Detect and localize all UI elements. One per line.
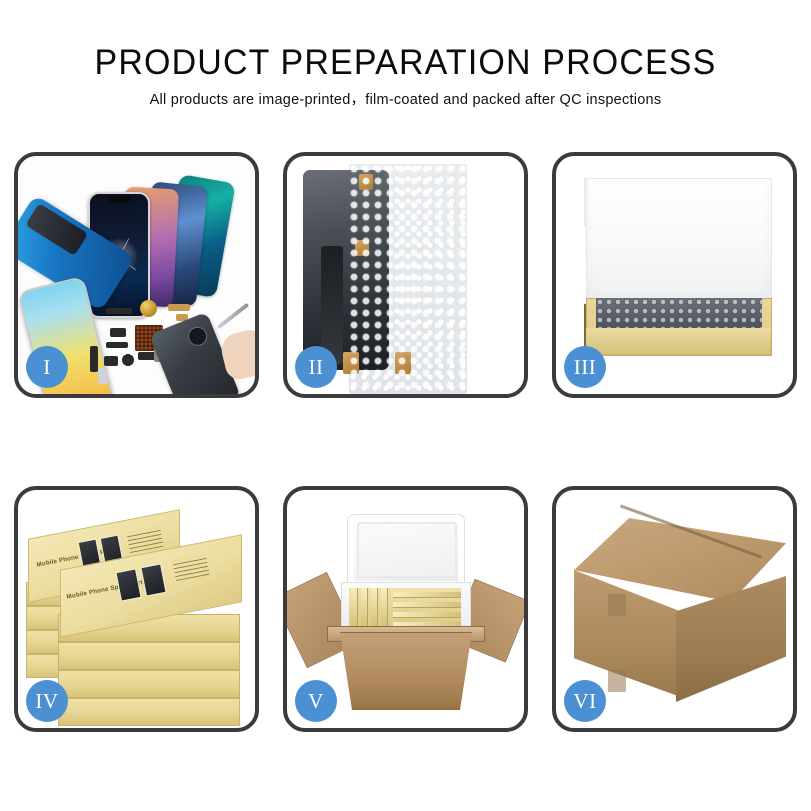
header: PRODUCT PREPARATION PROCESS All products…	[0, 42, 811, 110]
camera-lens-icon	[185, 324, 210, 349]
gold-component-icon	[140, 300, 157, 317]
step-badge-6: VI	[564, 680, 606, 722]
phone-notch-icon	[107, 196, 130, 203]
bubble-wrap-contents-icon	[596, 298, 762, 330]
carton-left-face-icon	[574, 570, 678, 696]
process-step-card-4: Mobile Phone Spare Parts Mobile Phone Sp…	[14, 486, 259, 732]
spare-part-icon	[98, 368, 108, 384]
carton-right-face-icon	[676, 576, 786, 702]
spare-part-icon	[106, 342, 128, 348]
process-step-card-2: II	[283, 152, 528, 398]
yellow-box-icon	[58, 642, 240, 670]
product-preparation-infographic: PRODUCT PREPARATION PROCESS All products…	[0, 0, 811, 811]
flex-cable-icon	[90, 346, 98, 372]
page-subtitle: All products are image-printed，film-coat…	[0, 90, 811, 110]
spare-part-icon	[110, 328, 126, 337]
foam-lid-inset-icon	[357, 522, 457, 578]
spare-part-icon	[168, 304, 190, 311]
process-step-grid: I II	[14, 152, 797, 732]
spare-part-icon	[104, 356, 118, 366]
process-step-card-3: III	[552, 152, 797, 398]
screen-flex-cable-icon	[321, 246, 343, 364]
packed-box-face-icon	[393, 602, 461, 608]
speaker-icon	[122, 354, 134, 366]
step-badge-2: II	[295, 346, 337, 388]
process-step-card-5: V	[283, 486, 528, 732]
packed-box-face-icon	[393, 612, 461, 618]
yellow-box-icon	[58, 670, 240, 698]
carton-body-icon	[331, 632, 481, 710]
packed-box-face-icon	[393, 592, 461, 598]
carton-tape-icon	[608, 594, 626, 616]
spare-part-icon	[106, 308, 132, 314]
process-step-card-1: I	[14, 152, 259, 398]
step-badge-4: IV	[26, 680, 68, 722]
box-tray-front-icon	[586, 328, 770, 354]
step-badge-3: III	[564, 346, 606, 388]
step-badge-1: I	[26, 346, 68, 388]
box-lid-icon	[586, 178, 772, 306]
bubble-wrap-overlay-icon	[349, 164, 467, 394]
yellow-box-icon	[58, 698, 240, 726]
process-step-card-6: VI	[552, 486, 797, 732]
step-badge-5: V	[295, 680, 337, 722]
carton-tape-icon	[608, 670, 626, 692]
page-title: PRODUCT PREPARATION PROCESS	[12, 42, 799, 84]
